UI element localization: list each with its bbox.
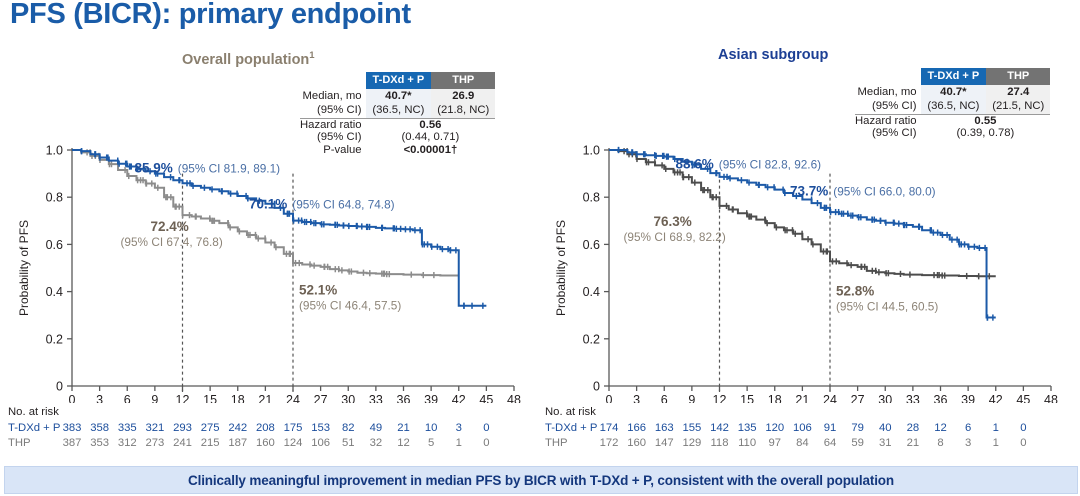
stats-value-hr: 0.55: [921, 114, 1051, 127]
y-axis-tick-label: 0: [56, 380, 63, 394]
stats-value-median-thp: 26.9: [431, 89, 495, 104]
stats-row-hr: Hazard ratio 0.56: [300, 118, 495, 131]
risk-value: 163: [651, 422, 677, 434]
risk-value: 82: [335, 422, 361, 434]
risk-value: 1: [983, 437, 1009, 449]
risk-value: 335: [114, 422, 140, 434]
x-axis-tick-label: 42: [989, 393, 1003, 403]
annotation-milestone-24mo-tdxd: 73.7%(95% CI 66.0, 80.0): [790, 184, 936, 199]
stats-row-hr: Hazard ratio 0.55: [855, 114, 1050, 127]
slide-root: PFS (BICR): primary endpoint Overall pop…: [0, 0, 1080, 496]
risk-value: 97: [762, 437, 788, 449]
stats-table-asian: T-DXd + P THP Median, mo 40.7* 27.4 (95%…: [855, 68, 1050, 140]
annotation-milestone-12mo-tdxd: 88.6%(95% CI 82.8, 92.6): [676, 156, 822, 171]
stats-header-thp: THP: [986, 68, 1050, 85]
risk-table-asian: No. at risk T-DXd + P1741661631551421351…: [545, 406, 596, 418]
stats-label-hr: Hazard ratio: [855, 114, 921, 127]
x-axis-tick-label: 3: [96, 393, 103, 403]
x-axis-tick-label: 3: [633, 393, 640, 403]
x-axis-tick-label: 39: [961, 393, 975, 403]
x-axis-tick-label: 15: [203, 393, 217, 403]
risk-value: 166: [624, 422, 650, 434]
risk-table-overall-label: No. at risk: [8, 406, 59, 418]
x-axis-tick-label: 48: [507, 393, 521, 403]
annotation-milestone-12mo-thp-pct: 72.4%: [151, 219, 189, 234]
panel-title-overall-superscript: 1: [309, 50, 314, 61]
annotation-milestone-24mo-thp-pct: 52.8%: [836, 284, 874, 299]
risk-value: 172: [596, 437, 622, 449]
stats-header-spacer: [855, 68, 921, 85]
risk-row-label: T-DXd + P: [8, 422, 60, 434]
stats-row-median: Median, mo 40.7* 26.9: [300, 89, 495, 104]
y-axis-tick-label: 0.8: [46, 191, 63, 205]
y-axis-tick-label: 1.0: [583, 144, 600, 158]
risk-value: 124: [280, 437, 306, 449]
x-axis-tick-label: 12: [713, 393, 727, 403]
risk-table-asian-label: No. at risk: [545, 406, 596, 418]
x-axis-tick-label: 36: [397, 393, 411, 403]
x-axis-tick-label: 21: [258, 393, 272, 403]
panel-title-asian: Asian subgroup: [718, 47, 828, 63]
x-axis-tick-label: 27: [314, 393, 328, 403]
km-plot-asian-svg: 00.20.40.60.81.0Probability of PFS036912…: [545, 138, 1065, 403]
x-axis-tick-label: 33: [369, 393, 383, 403]
x-axis-tick-label: 6: [661, 393, 668, 403]
risk-value: 64: [817, 437, 843, 449]
stats-label-median: Median, mo: [855, 85, 921, 100]
stats-label-median-ci: (95% CI): [300, 103, 366, 118]
y-axis-title: Probability of PFS: [554, 220, 568, 316]
y-axis-tick-label: 0.8: [583, 191, 600, 205]
risk-value: 160: [624, 437, 650, 449]
risk-value: 6: [955, 422, 981, 434]
stats-row-median-ci: (95% CI) (36.5, NC) (21.5, NC): [855, 99, 1050, 114]
risk-value: 208: [252, 422, 278, 434]
x-axis-tick-label: 0: [606, 393, 613, 403]
annotation-milestone-24mo-thp-ci: (95% CI 44.5, 60.5): [836, 300, 938, 314]
risk-value: 358: [87, 422, 113, 434]
risk-value: 21: [900, 437, 926, 449]
risk-value: 0: [473, 422, 499, 434]
risk-value: 49: [363, 422, 389, 434]
risk-value: 215: [197, 437, 223, 449]
risk-value: 10: [418, 422, 444, 434]
risk-value: 31: [872, 437, 898, 449]
x-axis-tick-label: 45: [479, 393, 493, 403]
risk-value: 353: [87, 437, 113, 449]
risk-value: 28: [900, 422, 926, 434]
risk-value: 118: [707, 437, 733, 449]
risk-value: 40: [872, 422, 898, 434]
km-plot-overall-svg: 00.20.40.60.81.0Probability of PFS036912…: [8, 138, 528, 403]
risk-value: 312: [114, 437, 140, 449]
stats-header-row: T-DXd + P THP: [300, 72, 495, 89]
x-axis-tick-label: 33: [906, 393, 920, 403]
x-axis-tick-label: 39: [424, 393, 438, 403]
x-axis-tick-label: 6: [124, 393, 131, 403]
stats-value-median-thp: 27.4: [986, 85, 1050, 100]
x-axis-tick-label: 45: [1016, 393, 1030, 403]
summary-banner-text: Clinically meaningful improvement in med…: [188, 473, 894, 488]
x-axis-tick-label: 18: [231, 393, 245, 403]
risk-value: 120: [762, 422, 788, 434]
risk-value: 147: [651, 437, 677, 449]
risk-value: 84: [789, 437, 815, 449]
x-axis-tick-label: 30: [341, 393, 355, 403]
risk-value: 155: [679, 422, 705, 434]
risk-value: 5: [418, 437, 444, 449]
stats-table-asian-grid: T-DXd + P THP Median, mo 40.7* 27.4 (95%…: [855, 68, 1050, 140]
annotation-milestone-12mo-tdxd: 85.9%(95% CI 81.9, 89.1): [135, 161, 281, 176]
y-axis-tick-label: 0.4: [583, 285, 600, 299]
risk-row-label: THP: [8, 437, 31, 449]
risk-value: 3: [446, 422, 472, 434]
stats-value-median-ci-thp: (21.5, NC): [986, 99, 1050, 114]
stats-value-hr: 0.56: [366, 118, 496, 131]
risk-row-label: THP: [545, 437, 568, 449]
y-axis-tick-label: 0.6: [583, 238, 600, 252]
risk-value: 187: [225, 437, 251, 449]
risk-value: 293: [170, 422, 196, 434]
risk-value: 242: [225, 422, 251, 434]
y-axis-title: Probability of PFS: [17, 220, 31, 316]
km-chart-asian: 00.20.40.60.81.0Probability of PFS036912…: [545, 138, 1065, 403]
stats-header-row: T-DXd + P THP: [855, 68, 1050, 85]
risk-value: 32: [363, 437, 389, 449]
risk-value: 12: [928, 422, 954, 434]
stats-label-median: Median, mo: [300, 89, 366, 104]
annotation-milestone-24mo-thp-pct: 52.1%: [299, 283, 337, 298]
risk-value: 174: [596, 422, 622, 434]
stats-value-median-ci-tdxd: (36.5, NC): [921, 99, 987, 114]
risk-value: 1: [446, 437, 472, 449]
stats-label-hr: Hazard ratio: [300, 118, 366, 131]
risk-value: 0: [1010, 422, 1036, 434]
y-axis-tick-label: 0.2: [46, 332, 63, 346]
annotation-milestone-12mo-thp-ci: (95% CI 67.4, 76.8): [121, 235, 223, 249]
panel-title-overall: Overall population1: [182, 50, 315, 68]
x-axis-tick-label: 30: [878, 393, 892, 403]
x-axis-tick-label: 21: [795, 393, 809, 403]
stats-value-median-tdxd: 40.7*: [366, 89, 432, 104]
risk-value: 51: [335, 437, 361, 449]
risk-value: 153: [308, 422, 334, 434]
risk-value: 387: [59, 437, 85, 449]
risk-value: 3: [955, 437, 981, 449]
x-axis-tick-label: 15: [740, 393, 754, 403]
km-chart-overall: 00.20.40.60.81.0Probability of PFS036912…: [8, 138, 528, 403]
x-axis-tick-label: 24: [286, 393, 300, 403]
x-axis-tick-label: 36: [934, 393, 948, 403]
risk-value: 1: [983, 422, 1009, 434]
risk-value: 241: [170, 437, 196, 449]
x-axis-tick-label: 9: [151, 393, 158, 403]
risk-value: 275: [197, 422, 223, 434]
risk-row-label: T-DXd + P: [545, 422, 597, 434]
risk-value: 91: [817, 422, 843, 434]
risk-value: 12: [391, 437, 417, 449]
risk-value: 59: [845, 437, 871, 449]
y-axis-tick-label: 0.6: [46, 238, 63, 252]
stats-header-tdxd: T-DXd + P: [921, 68, 987, 85]
summary-banner: Clinically meaningful improvement in med…: [4, 466, 1078, 494]
risk-table-overall: No. at risk T-DXd + P3833583353212932752…: [8, 406, 59, 418]
stats-header-tdxd: T-DXd + P: [366, 72, 432, 89]
annotation-milestone-12mo-thp-pct: 76.3%: [654, 214, 692, 229]
stats-value-median-ci-thp: (21.8, NC): [431, 103, 495, 118]
stats-row-median-ci: (95% CI) (36.5, NC) (21.8, NC): [300, 103, 495, 118]
x-axis-tick-label: 18: [768, 393, 782, 403]
risk-value: 129: [679, 437, 705, 449]
x-axis-tick-label: 0: [69, 393, 76, 403]
risk-value: 175: [280, 422, 306, 434]
risk-value: 383: [59, 422, 85, 434]
x-axis-tick-label: 48: [1044, 393, 1058, 403]
annotation-milestone-24mo-thp-ci: (95% CI 46.4, 57.5): [299, 299, 401, 313]
annotation-milestone-24mo-tdxd: 70.1%(95% CI 64.8, 74.8): [249, 197, 395, 212]
annotation-milestone-12mo-thp-ci: (95% CI 68.9, 82.2): [624, 230, 726, 244]
y-axis-tick-label: 0: [593, 380, 600, 394]
risk-value: 8: [928, 437, 954, 449]
x-axis-tick-label: 9: [688, 393, 695, 403]
risk-value: 0: [473, 437, 499, 449]
risk-value: 106: [308, 437, 334, 449]
risk-value: 142: [707, 422, 733, 434]
stats-value-median-ci-tdxd: (36.5, NC): [366, 103, 432, 118]
stats-label-median-ci: (95% CI): [855, 99, 921, 114]
risk-value: 135: [734, 422, 760, 434]
stats-header-thp: THP: [431, 72, 495, 89]
risk-value: 21: [391, 422, 417, 434]
risk-value: 273: [142, 437, 168, 449]
y-axis-tick-label: 0.4: [46, 285, 63, 299]
x-axis-tick-label: 12: [176, 393, 190, 403]
stats-value-median-tdxd: 40.7*: [921, 85, 987, 100]
page-title: PFS (BICR): primary endpoint: [10, 0, 411, 31]
x-axis-tick-label: 42: [452, 393, 466, 403]
y-axis-tick-label: 0.2: [583, 332, 600, 346]
risk-value: 79: [845, 422, 871, 434]
x-axis-tick-label: 24: [823, 393, 837, 403]
x-axis-tick-label: 27: [851, 393, 865, 403]
risk-value: 110: [734, 437, 760, 449]
risk-value: 160: [252, 437, 278, 449]
risk-value: 321: [142, 422, 168, 434]
panel-title-overall-text: Overall population: [182, 52, 309, 68]
y-axis-tick-label: 1.0: [46, 144, 63, 158]
stats-header-spacer: [300, 72, 366, 89]
risk-value: 106: [789, 422, 815, 434]
stats-row-median: Median, mo 40.7* 27.4: [855, 85, 1050, 100]
risk-value: 0: [1010, 437, 1036, 449]
